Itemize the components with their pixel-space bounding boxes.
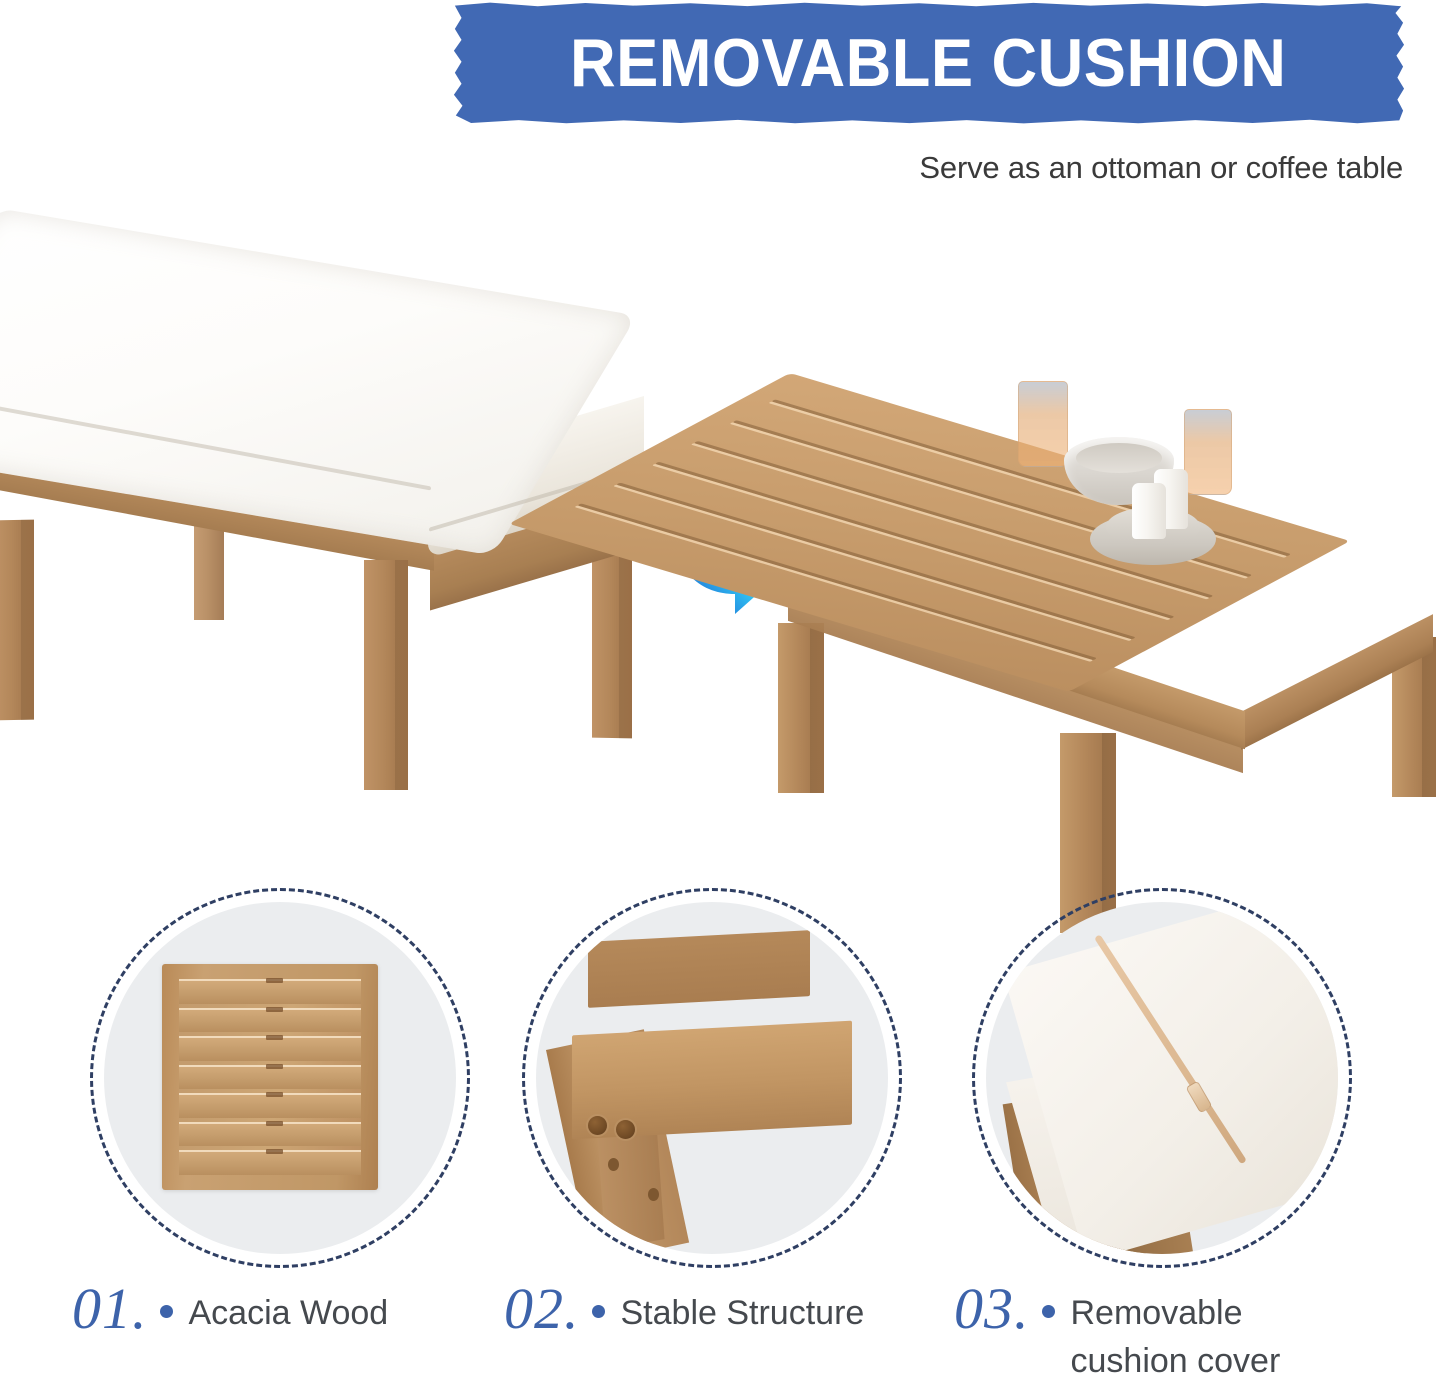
features-section: 01. Acacia Wood — [0, 880, 1445, 1388]
amber-glass-right — [1184, 409, 1232, 495]
feature-3-bullet-icon — [1042, 1305, 1055, 1318]
feature-3-photo-circle — [972, 888, 1352, 1268]
ottoman-illustration — [0, 200, 672, 720]
feature-2-label: Stable Structure — [621, 1278, 865, 1337]
feature-1-caption: 01. Acacia Wood — [72, 1278, 388, 1338]
amber-glass-left — [1018, 381, 1068, 467]
header-banner: REMOVABLE CUSHION — [452, 2, 1405, 124]
feature-2-caption: 02. Stable Structure — [504, 1278, 864, 1338]
banner-title: REMOVABLE CUSHION — [570, 29, 1286, 97]
feature-2-photo-circle — [522, 888, 902, 1268]
feature-item-2: 02. Stable Structure — [492, 880, 932, 1388]
product-infographic-page: REMOVABLE CUSHION Serve as an ottoman or… — [0, 0, 1445, 1388]
ottoman-leg-front-left — [0, 520, 34, 721]
white-candle-front — [1132, 483, 1166, 539]
feature-3-label: Removable cushion cover — [1071, 1278, 1321, 1386]
feature-2-bullet-icon — [592, 1305, 605, 1318]
feature-item-3: 03. Removable cushion cover — [942, 880, 1382, 1388]
feature-item-1: 01. Acacia Wood — [60, 880, 500, 1388]
ottoman-leg-back-right — [592, 552, 632, 739]
feature-1-dashed-ring — [90, 888, 470, 1268]
table-leg-back-left — [778, 623, 824, 793]
feature-2-number: 02. — [504, 1278, 580, 1338]
feature-3-dashed-ring — [972, 888, 1352, 1268]
feature-3-number: 03. — [954, 1278, 1030, 1338]
ottoman-leg-front-right — [364, 560, 408, 790]
hero-section — [0, 190, 1445, 850]
feature-1-number: 01. — [72, 1278, 148, 1338]
feature-1-bullet-icon — [160, 1305, 173, 1318]
feature-3-caption: 03. Removable cushion cover — [954, 1278, 1321, 1386]
feature-1-label: Acacia Wood — [189, 1278, 389, 1337]
feature-2-dashed-ring — [522, 888, 902, 1268]
subtitle-text: Serve as an ottoman or coffee table — [919, 150, 1403, 186]
coffee-table-illustration — [760, 365, 1445, 865]
feature-1-photo-circle — [90, 888, 470, 1268]
